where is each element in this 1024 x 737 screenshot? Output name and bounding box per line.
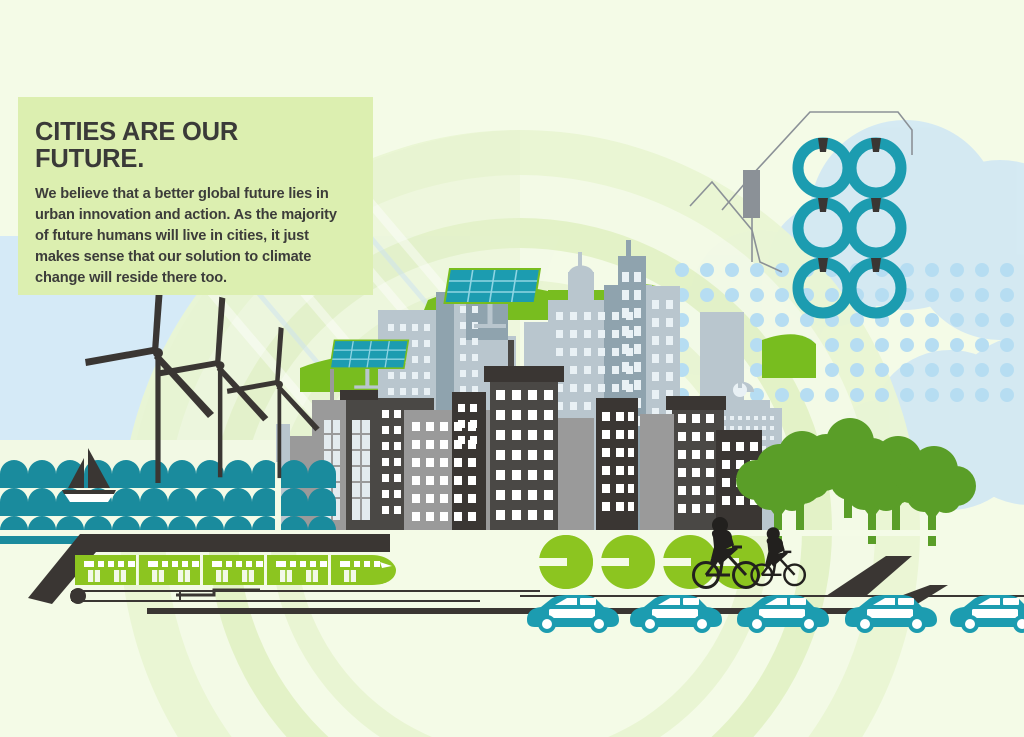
crane-block	[743, 170, 760, 218]
page-title: CITIES ARE OUR FUTURE.	[35, 119, 345, 173]
infographic-canvas: CITIES ARE OUR FUTURE. We believe that a…	[0, 0, 1024, 737]
headline-panel: CITIES ARE OUR FUTURE. We believe that a…	[18, 97, 373, 295]
body-copy: We believe that a better global future l…	[35, 184, 345, 290]
